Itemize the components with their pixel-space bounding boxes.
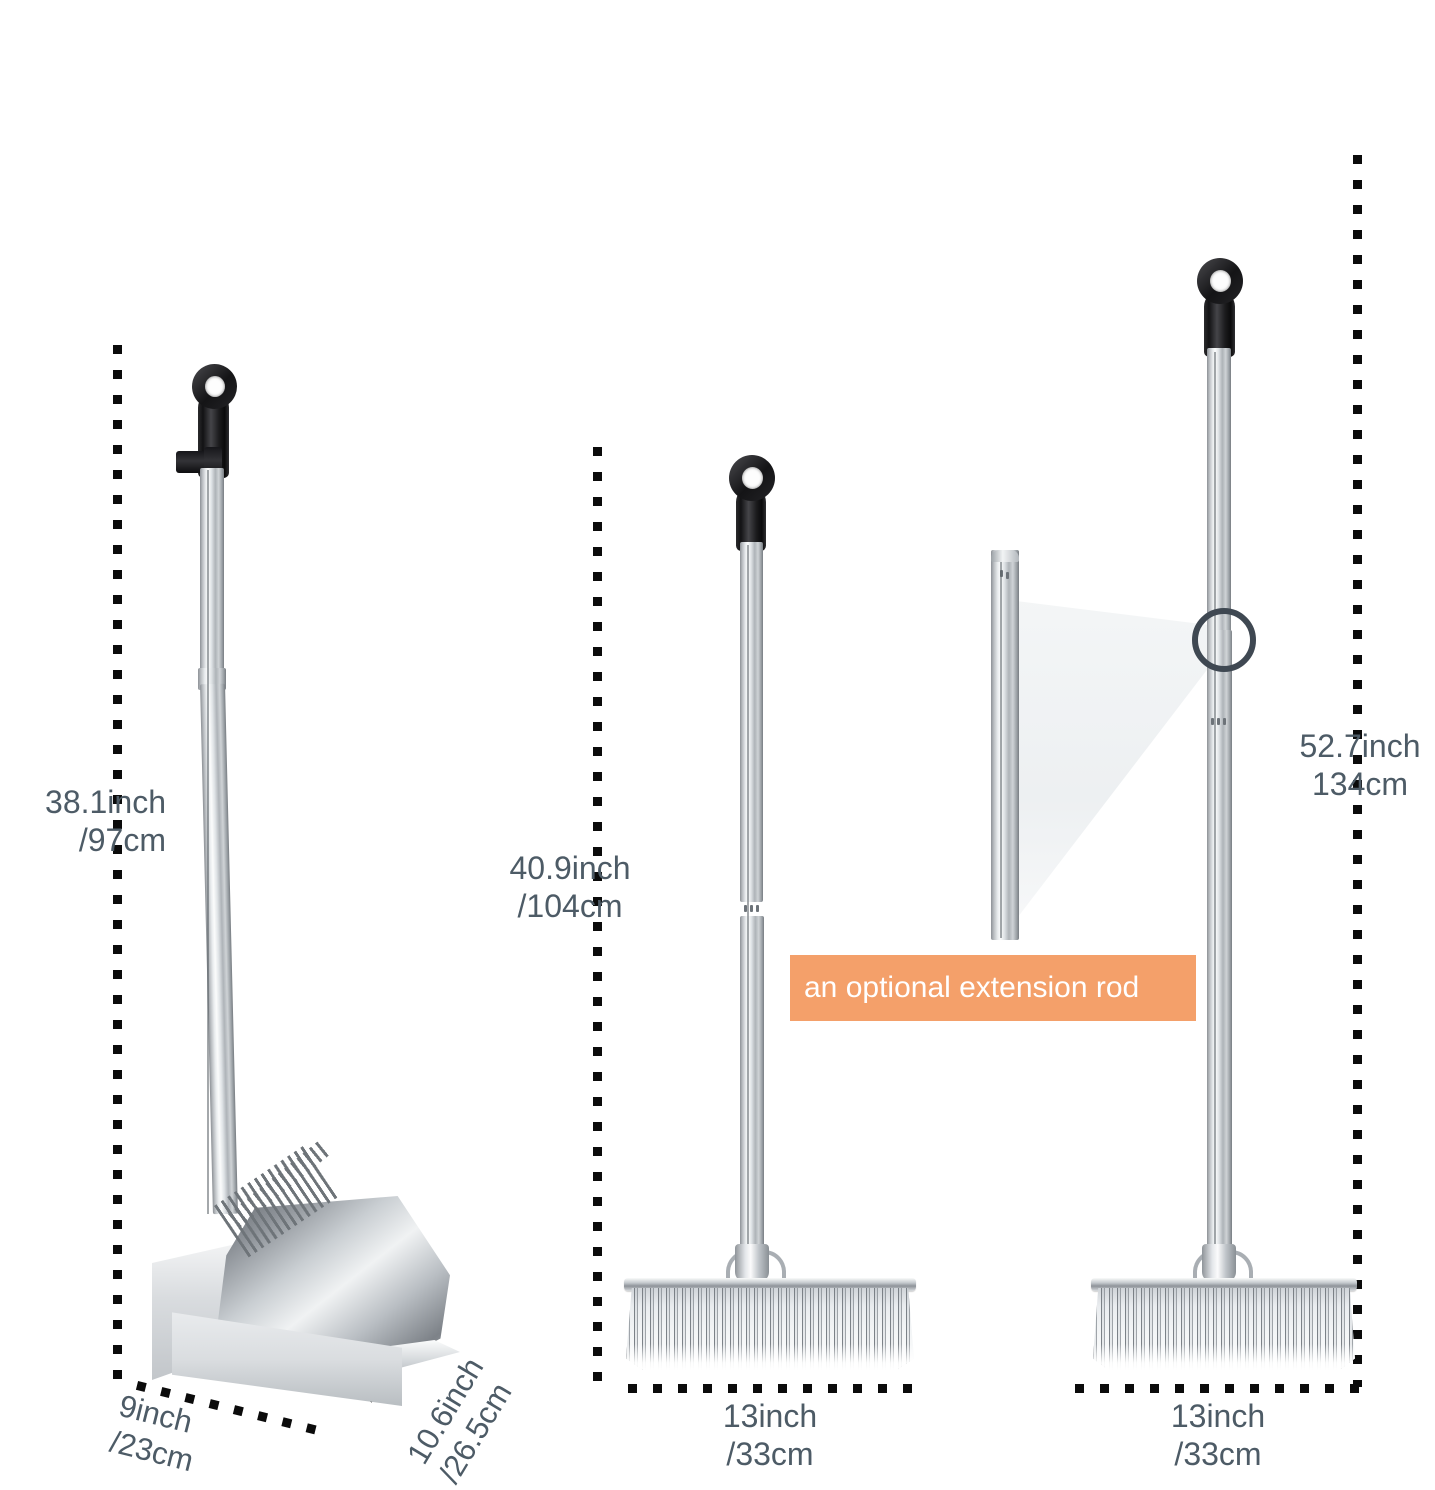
magnifier-ring-icon — [1192, 608, 1256, 672]
bristle-fade — [626, 1344, 914, 1370]
broom-ext-pole-mid — [1207, 630, 1232, 920]
dimension-rule-dustpan-height — [113, 345, 122, 1390]
dimension-label-broom-height: 40.9inch /104cm — [470, 850, 670, 926]
dustpan-handle-loop-wrap — [192, 364, 237, 410]
extension-rod-holes — [1000, 570, 1014, 580]
hang-hole-icon — [742, 467, 763, 489]
broom-ferrule — [735, 1244, 769, 1282]
dustpan-head — [150, 1190, 450, 1405]
broom-ext-pole-lower — [1207, 912, 1232, 1256]
broom-ext-bristles — [1093, 1288, 1355, 1370]
dimension-label-broom-ext-height: 52.7inch 134cm — [1270, 728, 1435, 804]
infographic-canvas: The Longest Broom : No More Bending — [0, 0, 1435, 1468]
extension-rod-seam — [1000, 562, 1002, 938]
dimension-label-broom-ext-width: 13inch /33cm — [1118, 1398, 1318, 1474]
broom-pole-seam — [747, 545, 749, 1255]
dimension-rule-broom-width — [628, 1384, 914, 1393]
dimension-label-broom-width: 13inch /33cm — [670, 1398, 870, 1474]
dustpan-pole-upper — [200, 468, 224, 683]
extension-rod-callout: an optional extension rod — [790, 955, 1196, 1021]
header-banner: The Longest Broom : No More Bending — [8, 8, 1352, 128]
broom-ext-pole-top — [1207, 348, 1231, 638]
broom-pole-lower — [740, 916, 764, 1256]
bristle-fade — [1093, 1344, 1355, 1370]
extension-rod-callout-label: an optional extension rod — [790, 971, 1153, 1005]
dustpan-pole-seam — [207, 470, 209, 1214]
dimension-label-dustpan-height: 38.1inch /97cm — [0, 784, 166, 860]
broom-handle-loop-wrap — [729, 455, 775, 503]
broom-ext-pole-seam — [1214, 352, 1216, 1256]
hang-hole-icon — [205, 376, 225, 397]
dustpan-pole-lower — [200, 684, 238, 1214]
broom-bristles — [626, 1288, 914, 1370]
broom-pole-upper — [740, 542, 763, 902]
broom-ext-handle-loop-wrap — [1197, 258, 1243, 306]
magnifier-cone — [1008, 600, 1220, 930]
hang-hole-icon — [1210, 270, 1231, 292]
broom-ext-ferrule — [1202, 1244, 1236, 1282]
dimension-rule-broom-ext-width — [1075, 1384, 1362, 1393]
page-title: The Longest Broom : No More Bending — [8, 37, 1146, 100]
extension-rod — [991, 550, 1019, 940]
extension-rod-top-cap — [991, 550, 1019, 562]
